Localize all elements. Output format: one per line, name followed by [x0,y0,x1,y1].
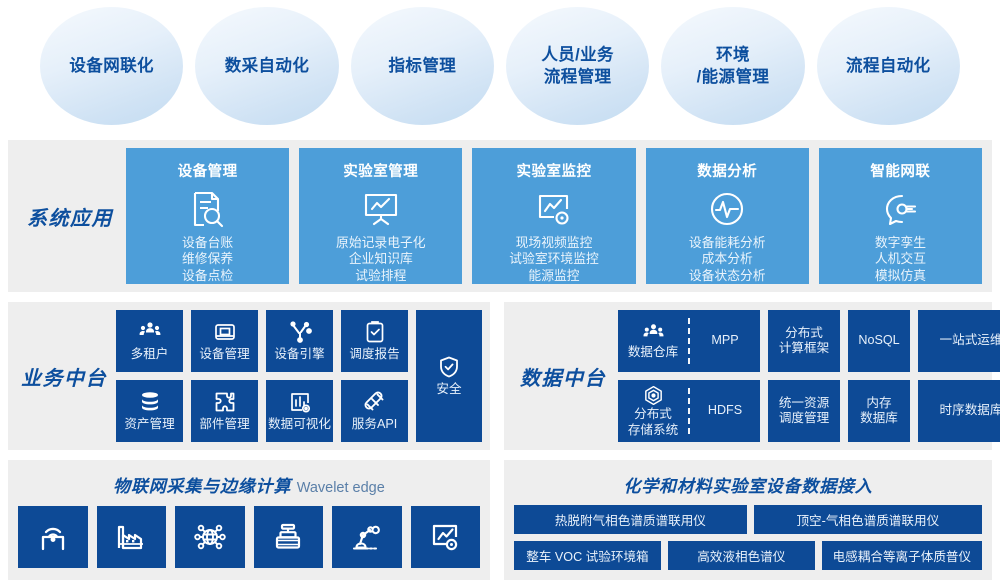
business-platform-band: 业务中台 多租户 设备管理 [8,302,490,450]
capability-label: 人员/业务 流程管理 [541,44,614,89]
capability-bubble-6[interactable]: 流程自动化 [817,7,960,125]
lab-data-access-band: 化学和材料实验室设备数据接入 热脱附气相色谱质谱联用仪 顶空-气相色谱质谱联用仪… [504,460,992,580]
system-application-band: 系统应用 设备管理 设备台账 维修保养 设备点检 实验室管理 [8,140,992,292]
biz-tile-label: 服务API [352,417,398,432]
app-card-data-analysis[interactable]: 数据分析 设备能耗分析 成本分析 设备状态分析 [646,148,809,284]
app-card-title: 智能网联 [870,160,930,181]
iot-edge-title-text: 物联网采集与边缘计算 [113,477,291,496]
lab-pill-label: 电感耦合等离子体质普仪 [833,546,972,565]
cube-network-icon [642,384,665,407]
iot-tile-valve-pipe[interactable] [254,506,324,568]
business-platform-grid: 多租户 设备管理 设备引擎 [116,310,490,442]
capability-bubble-4[interactable]: 人员/业务 流程管理 [506,7,649,125]
capability-bubble-5[interactable]: 环境 /能源管理 [661,7,804,125]
data-tile-label: 分布式 计算框架 [779,326,829,357]
iot-tile-network-globe[interactable] [175,506,245,568]
biz-tile-label: 资产管理 [124,417,174,432]
data-tile-nosql[interactable]: NoSQL [848,310,910,372]
data-tile-label: 数据仓库 [628,345,678,360]
data-tile-storage[interactable]: 分布式 存储系统 HDFS [618,380,760,442]
iot-edge-title: 物联网采集与边缘计算 Wavelet edge [8,460,490,497]
data-tile-label: 一站式运维 [940,333,1000,348]
app-card-items: 数字孪生 人机交互 模拟仿真 [875,235,926,284]
capability-label: 指标管理 [389,55,457,77]
biz-tile-multi-tenant[interactable]: 多租户 [116,310,183,372]
biz-tile-label: 数据可视化 [268,417,331,432]
lab-pill-row-1: 热脱附气相色谱质谱联用仪 顶空-气相色谱质谱联用仪 [514,505,982,534]
node-graph-icon [288,320,312,344]
capability-bubble-1[interactable]: 设备网联化 [40,7,183,125]
app-card-laboratory-monitoring[interactable]: 实验室监控 现场视频监控 试验室环境监控 能源监控 [472,148,635,284]
iot-tile-chart-monitor[interactable] [411,506,481,568]
app-card-items: 设备台账 维修保养 设备点检 [182,235,233,284]
ai-head-icon [880,189,920,229]
clipboard-check-icon [363,320,387,344]
data-platform-band: 数据中台 数据仓库 MPP 分布式 计算框架 NoSQL 一站式运 [504,302,992,450]
data-storage-main: 分布式 存储系统 [618,380,688,442]
capability-bubble-2[interactable]: 数采自动化 [195,7,338,125]
biz-tile-asset-management[interactable]: 资产管理 [116,380,183,442]
iot-tile-wifi-sensor[interactable] [18,506,88,568]
biz-tile-component-management[interactable]: 部件管理 [191,380,258,442]
puzzle-piece-icon [213,390,237,414]
data-tile-label: 统一资源 调度管理 [779,396,829,427]
iot-network-globe-icon [193,520,227,554]
app-card-items: 现场视频监控 试验室环境监控 能源监控 [509,235,599,284]
app-card-title: 数据分析 [697,160,757,181]
lab-pill-voc-chamber[interactable]: 整车 VOC 试验环境箱 [514,541,661,570]
capability-label: 环境 /能源管理 [697,44,770,89]
capability-label: 数采自动化 [225,55,310,77]
lab-pill-headspace-gcms[interactable]: 顶空-气相色谱质谱联用仪 [754,505,982,534]
biz-tile-dispatch-report[interactable]: 调度报告 [341,310,408,372]
app-card-device-management[interactable]: 设备管理 设备台账 维修保养 设备点检 [126,148,289,284]
divider-dashed [688,388,690,434]
biz-tile-security[interactable]: 安全 [416,310,482,442]
system-application-cards: 设备管理 设备台账 维修保养 设备点检 实验室管理 [126,148,992,284]
data-warehouse-main: 数据仓库 [618,310,688,372]
lab-data-access-title: 化学和材料实验室设备数据接入 [504,460,992,497]
data-warehouse-tech: MPP [690,310,760,372]
data-tile-warehouse[interactable]: 数据仓库 MPP [618,310,760,372]
robot-arm-icon [350,520,384,554]
iot-tile-robot-arm[interactable] [332,506,402,568]
data-tile-unified-resource-scheduling[interactable]: 统一资源 调度管理 [768,380,840,442]
api-link-icon [363,390,387,414]
biz-tile-label: 多租户 [131,347,169,362]
data-tile-one-stop-ops[interactable]: 一站式运维 [918,310,1000,372]
document-search-icon [188,189,228,229]
app-card-items: 原始记录电子化 企业知识库 试验排程 [336,235,426,284]
iot-tile-factory[interactable] [97,506,167,568]
data-storage-tech: HDFS [690,380,760,442]
app-card-title: 实验室管理 [343,160,418,181]
presentation-chart-icon [361,189,401,229]
divider-dashed [688,318,690,364]
app-card-title: 设备管理 [178,160,238,181]
chart-monitor-icon [428,520,462,554]
lab-pill-label: 热脱附气相色谱质谱联用仪 [555,510,706,529]
capability-label: 流程自动化 [846,55,931,77]
app-card-title: 实验室监控 [517,160,592,181]
app-card-intelligent-connectivity[interactable]: 智能网联 数字孪生 人机交互 模拟仿真 [819,148,982,284]
data-platform-label: 数据中台 [508,362,618,391]
data-tile-label: 内存 数据库 [860,396,898,427]
valve-pipe-icon [271,520,305,554]
iot-edge-band: 物联网采集与边缘计算 Wavelet edge [8,460,490,580]
data-platform-grid: 数据仓库 MPP 分布式 计算框架 NoSQL 一站式运维 分 [618,310,1000,442]
lab-pill-row-2: 整车 VOC 试验环境箱 高效液相色谱仪 电感耦合等离子体质普仪 [514,541,982,570]
factory-icon [114,520,148,554]
biz-tile-label: 安全 [436,382,461,397]
biz-tile-label: 部件管理 [199,417,249,432]
biz-tile-label: 设备引擎 [274,347,324,362]
system-application-label: 系统应用 [14,202,126,231]
lab-pill-label: 高效液相色谱仪 [697,546,785,565]
app-card-laboratory-management[interactable]: 实验室管理 原始记录电子化 企业知识库 试验排程 [299,148,462,284]
biz-tile-label: 调度报告 [349,347,399,362]
biz-tile-device-engine[interactable]: 设备引擎 [266,310,333,372]
multi-tenant-icon [642,322,665,345]
data-tile-label: NoSQL [858,333,899,348]
iot-icon-row [8,497,490,568]
database-stack-icon [138,390,162,414]
wifi-sensor-icon [36,520,70,554]
lab-pill-label: 整车 VOC 试验环境箱 [526,546,648,565]
data-tile-label: 时序数据库 [940,403,1000,418]
app-card-items: 设备能耗分析 成本分析 设备状态分析 [689,235,766,284]
iot-edge-subtitle: Wavelet edge [297,480,385,496]
biz-tile-data-visualization[interactable]: 数据可视化 [266,380,333,442]
lab-pill-rows: 热脱附气相色谱质谱联用仪 顶空-气相色谱质谱联用仪 整车 VOC 试验环境箱 高… [504,497,992,570]
bar-chart-view-icon [288,390,312,414]
data-tile-in-memory-db[interactable]: 内存 数据库 [848,380,910,442]
data-tile-distributed-computing[interactable]: 分布式 计算框架 [768,310,840,372]
pulse-circle-icon [707,189,747,229]
lab-pill-label: 顶空-气相色谱质谱联用仪 [796,510,939,529]
shield-check-icon [437,355,461,379]
architecture-diagram: 设备网联化 数采自动化 指标管理 人员/业务 流程管理 环境 /能源管理 流程自… [0,0,1000,588]
capability-label: 设备网联化 [69,55,154,77]
biz-tile-service-api[interactable]: 服务API [341,380,408,442]
capability-bubble-3[interactable]: 指标管理 [351,7,494,125]
biz-tile-device-management[interactable]: 设备管理 [191,310,258,372]
data-tile-timeseries-db[interactable]: 时序数据库 [918,380,1000,442]
top-capability-row: 设备网联化 数采自动化 指标管理 人员/业务 流程管理 环境 /能源管理 流程自… [0,0,1000,132]
lab-pill-icp-ms[interactable]: 电感耦合等离子体质普仪 [822,541,982,570]
multi-tenant-icon [138,320,162,344]
monitor-chart-icon [534,189,574,229]
business-platform-label: 业务中台 [12,362,116,391]
lab-pill-hplc[interactable]: 高效液相色谱仪 [668,541,815,570]
data-tile-label: 分布式 存储系统 [628,407,678,438]
device-box-icon [213,320,237,344]
biz-tile-label: 设备管理 [199,347,249,362]
lab-pill-thermal-desorption-gcms[interactable]: 热脱附气相色谱质谱联用仪 [514,505,747,534]
